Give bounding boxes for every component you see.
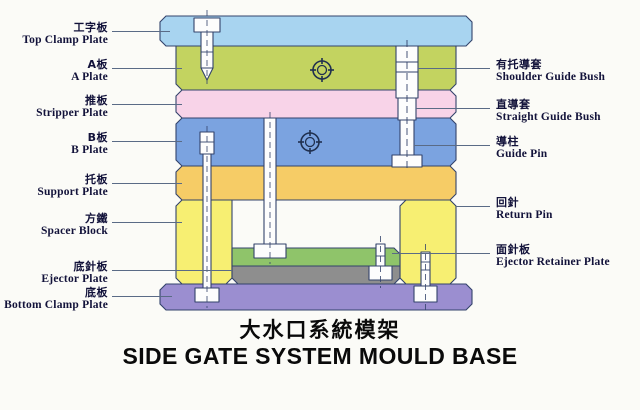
label-straight-guide-bush: 直導套 Straight Guide Bush <box>496 98 601 124</box>
label-top-clamp-plate-cn: 工字板 <box>0 21 108 34</box>
label-spacer-block: 方鐵 Spacer Block <box>0 212 108 238</box>
label-ejector-retainer-plate-en: Ejector Retainer Plate <box>496 256 610 269</box>
mould-base-diagram-page: 工字板 Top Clamp Plate A板 A Plate 推板 Stripp… <box>0 0 640 410</box>
label-shoulder-guide-bush: 有托導套 Shoulder Guide Bush <box>496 58 605 84</box>
label-return-pin-cn: 回針 <box>496 196 553 209</box>
leader-bottom-clamp-plate <box>112 296 172 297</box>
diagram-title: 大水口系統模架 SIDE GATE SYSTEM MOULD BASE <box>0 318 640 370</box>
label-a-plate-en: A Plate <box>0 71 108 84</box>
label-guide-pin-en: Guide Pin <box>496 148 547 161</box>
label-support-plate-en: Support Plate <box>0 186 108 199</box>
label-return-pin: 回針 Return Pin <box>496 196 553 222</box>
label-stripper-plate-en: Stripper Plate <box>0 107 108 120</box>
label-ejector-retainer-plate: 面針板 Ejector Retainer Plate <box>496 243 610 269</box>
label-b-plate-cn: B板 <box>0 131 108 144</box>
leader-ejector-retainer-plate <box>392 253 490 254</box>
leader-b-plate <box>112 141 182 142</box>
leader-return-pin <box>456 206 490 207</box>
label-shoulder-guide-bush-en: Shoulder Guide Bush <box>496 71 605 84</box>
leader-shoulder-guide-bush <box>418 68 490 69</box>
leader-stripper-plate <box>112 104 182 105</box>
label-bottom-clamp-plate-en: Bottom Clamp Plate <box>0 299 108 312</box>
label-guide-pin-cn: 導柱 <box>496 135 547 148</box>
label-return-pin-en: Return Pin <box>496 209 553 222</box>
leader-straight-guide-bush <box>416 108 490 109</box>
label-spacer-block-cn: 方鐵 <box>0 212 108 225</box>
label-straight-guide-bush-en: Straight Guide Bush <box>496 111 601 124</box>
label-b-plate-en: B Plate <box>0 144 108 157</box>
label-stripper-plate-cn: 推板 <box>0 94 108 107</box>
label-a-plate: A板 A Plate <box>0 58 108 84</box>
label-shoulder-guide-bush-cn: 有托導套 <box>496 58 605 71</box>
label-a-plate-cn: A板 <box>0 58 108 71</box>
label-spacer-block-en: Spacer Block <box>0 225 108 238</box>
leader-top-clamp-plate <box>112 31 170 32</box>
leader-ejector-plate <box>112 270 232 271</box>
label-stripper-plate: 推板 Stripper Plate <box>0 94 108 120</box>
label-guide-pin: 導柱 Guide Pin <box>496 135 547 161</box>
label-b-plate: B板 B Plate <box>0 131 108 157</box>
diagram-title-cn: 大水口系統模架 <box>0 318 640 343</box>
leader-a-plate <box>112 68 182 69</box>
label-support-plate: 托板 Support Plate <box>0 173 108 199</box>
label-ejector-retainer-plate-cn: 面針板 <box>496 243 610 256</box>
label-ejector-plate-cn: 底針板 <box>0 260 108 273</box>
leader-support-plate <box>112 183 182 184</box>
leader-spacer-block <box>112 222 182 223</box>
label-ejector-plate: 底針板 Ejector Plate <box>0 260 108 286</box>
label-top-clamp-plate: 工字板 Top Clamp Plate <box>0 21 108 47</box>
plate-support-plate <box>176 166 456 200</box>
label-bottom-clamp-plate-cn: 底板 <box>0 286 108 299</box>
diagram-title-en: SIDE GATE SYSTEM MOULD BASE <box>0 343 640 370</box>
label-support-plate-cn: 托板 <box>0 173 108 186</box>
leader-guide-pin <box>414 145 490 146</box>
label-ejector-plate-en: Ejector Plate <box>0 273 108 286</box>
label-straight-guide-bush-cn: 直導套 <box>496 98 601 111</box>
label-bottom-clamp-plate: 底板 Bottom Clamp Plate <box>0 286 108 312</box>
label-top-clamp-plate-en: Top Clamp Plate <box>0 34 108 47</box>
